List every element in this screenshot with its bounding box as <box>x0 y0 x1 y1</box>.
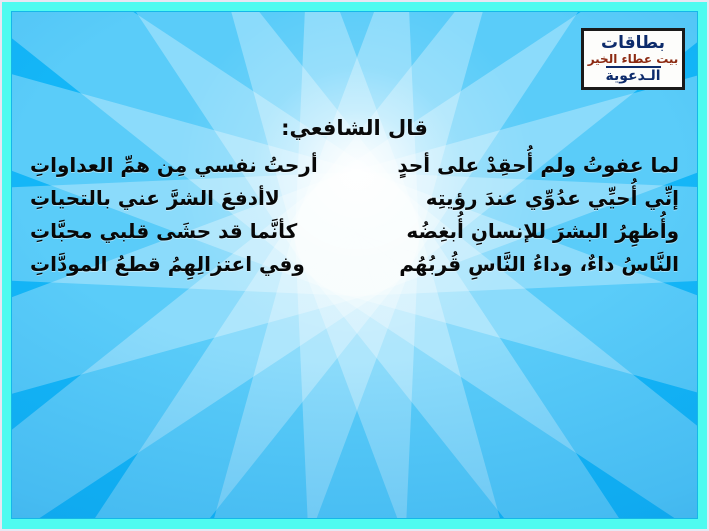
inner-frame-edge: بطاقات بيت عطاء الخير الـدعوية قال الشاف… <box>11 11 698 519</box>
verse-hemistich-second: لاأدفعَ الشرَّ عني بالتحياتِ <box>26 186 280 210</box>
verse-hemistich-first: النَّاسُ داءٌ، وداءُ النَّاسِ قُربُهُم <box>399 252 683 276</box>
verse-hemistich-second: أرحتُ نفسي مِن همِّ العداواتِ <box>26 153 318 177</box>
logo-line-3: الـدعوية <box>606 66 661 83</box>
verse-hemistich-first: وأُظهِرُ البشرَ للإنسانِ أُبغِضُه <box>406 219 683 243</box>
logo-line-1: بطاقات <box>601 35 665 52</box>
poster-card: بطاقات بيت عطاء الخير الـدعوية قال الشاف… <box>0 0 709 531</box>
poem-title: قال الشافعي: <box>26 116 683 140</box>
poem-verse: لما عفوتُ ولم أُحقِدْ على أحدٍأرحتُ نفسي… <box>26 153 683 177</box>
verse-hemistich-second: وفي اعتزالِهِمُ قطعُ المودَّاتِ <box>26 252 305 276</box>
poem-verse: إنِّي أُحيِّي عدُوِّي عندَ رؤيتِهلاأدفعَ… <box>26 186 683 210</box>
poem-verse: النَّاسُ داءٌ، وداءُ النَّاسِ قُربُهُموف… <box>26 252 683 276</box>
verse-hemistich-first: لما عفوتُ ولم أُحقِدْ على أحدٍ <box>397 153 683 177</box>
poem-verse: وأُظهِرُ البشرَ للإنسانِ أُبغِضُهكأنَّما… <box>26 219 683 243</box>
verse-hemistich-second: كأنَّما قد حشَى قلبي محبَّاتِ <box>26 219 297 243</box>
verse-list: لما عفوتُ ولم أُحقِدْ على أحدٍأرحتُ نفسي… <box>26 153 683 276</box>
logo-line-2: بيت عطاء الخير <box>588 53 679 65</box>
cyan-border-frame: بطاقات بيت عطاء الخير الـدعوية قال الشاف… <box>2 2 707 529</box>
verse-hemistich-first: إنِّي أُحيِّي عدُوِّي عندَ رؤيتِه <box>426 186 683 210</box>
bataqat-logo: بطاقات بيت عطاء الخير الـدعوية <box>581 28 685 90</box>
